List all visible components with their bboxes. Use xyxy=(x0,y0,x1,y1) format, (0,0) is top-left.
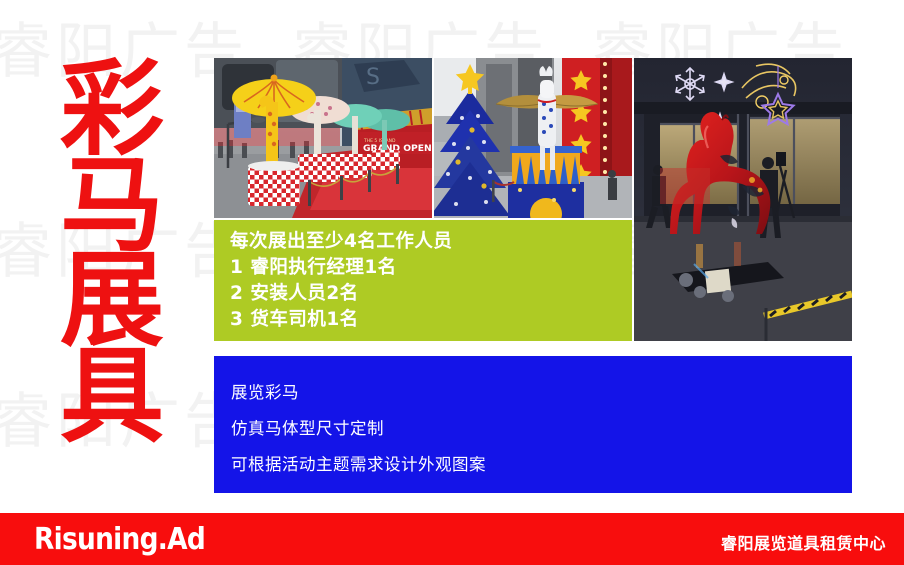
green-box-line: 3 货车司机1名 xyxy=(230,307,632,333)
photo-giraffe-umbrella-sculptures: S THE 5 ISLAND GRAND OPENIN xyxy=(214,58,432,218)
blue-box-line: 可根据活动主题需求设计外观图案 xyxy=(231,447,852,483)
footer-company-name: 睿阳展览道具租赁中心 xyxy=(721,530,886,554)
svg-text:S: S xyxy=(366,65,380,90)
blue-box-line: 展览彩马 xyxy=(231,375,852,411)
green-box-line: 2 安装人员2名 xyxy=(230,281,632,307)
blue-box-line: 仿真马体型尺寸定制 xyxy=(231,411,852,447)
photo-3-artwork xyxy=(634,58,852,341)
page-title: 彩 马 展 具 xyxy=(52,62,172,445)
green-box-line: 每次展出至少4名工作人员 xyxy=(230,229,632,255)
photo-2-artwork xyxy=(434,58,632,218)
title-char: 具 xyxy=(52,349,172,445)
photo-1-artwork: S THE 5 ISLAND GRAND OPENIN xyxy=(214,58,432,218)
product-description-box: 展览彩马 仿真马体型尺寸定制 可根据活动主题需求设计外观图案 xyxy=(214,356,852,493)
photo-pegasus-christmas-tree xyxy=(434,58,632,218)
photo-red-horse-night xyxy=(634,58,852,341)
presentation-slide: 睿阳广告 睿阳广告 睿阳广告 睿阳广告 睿阳广告 睿阳广告 睿阳广告 睿阳广告 … xyxy=(0,0,904,565)
staffing-info-box: 每次展出至少4名工作人员 1 睿阳执行经理1名 2 安装人员2名 3 货车司机1… xyxy=(214,220,632,341)
brand-logo: Risuning.Ad xyxy=(34,522,205,557)
green-box-line: 1 睿阳执行经理1名 xyxy=(230,255,632,281)
footer-bar: Risuning.Ad 睿阳展览道具租赁中心 xyxy=(0,513,904,565)
